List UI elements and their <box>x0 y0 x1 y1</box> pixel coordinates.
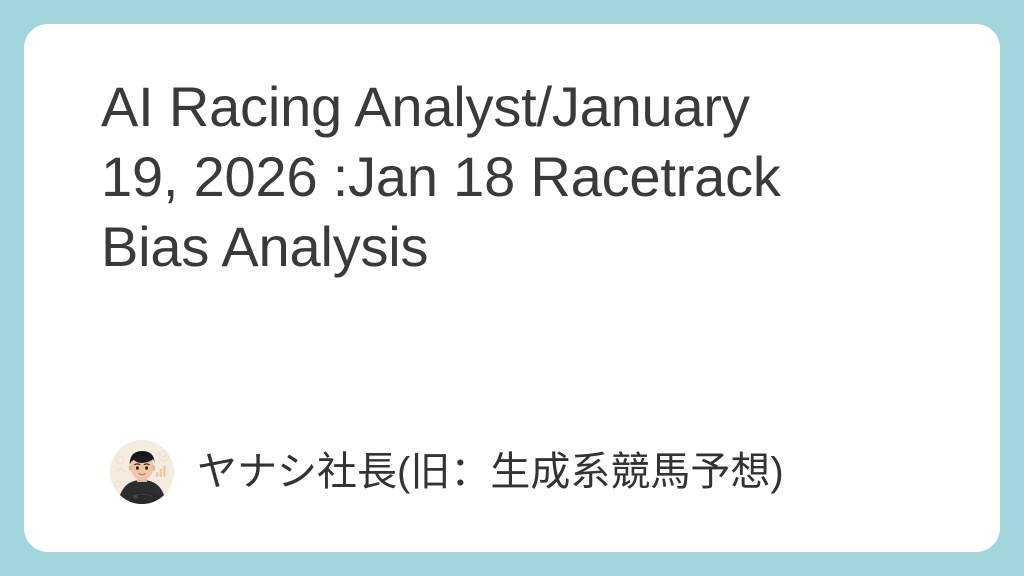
article-preview-card: AI Racing Analyst/January 19, 2026 :Jan … <box>24 24 1000 552</box>
author-byline: ヤナシ社長(旧：生成系競馬予想) <box>110 440 784 504</box>
author-name: ヤナシ社長(旧：生成系競馬予想) <box>197 446 784 498</box>
page-title: AI Racing Analyst/January 19, 2026 :Jan … <box>101 72 841 282</box>
card-content: AI Racing Analyst/January 19, 2026 :Jan … <box>101 54 960 528</box>
avatar <box>110 440 174 504</box>
